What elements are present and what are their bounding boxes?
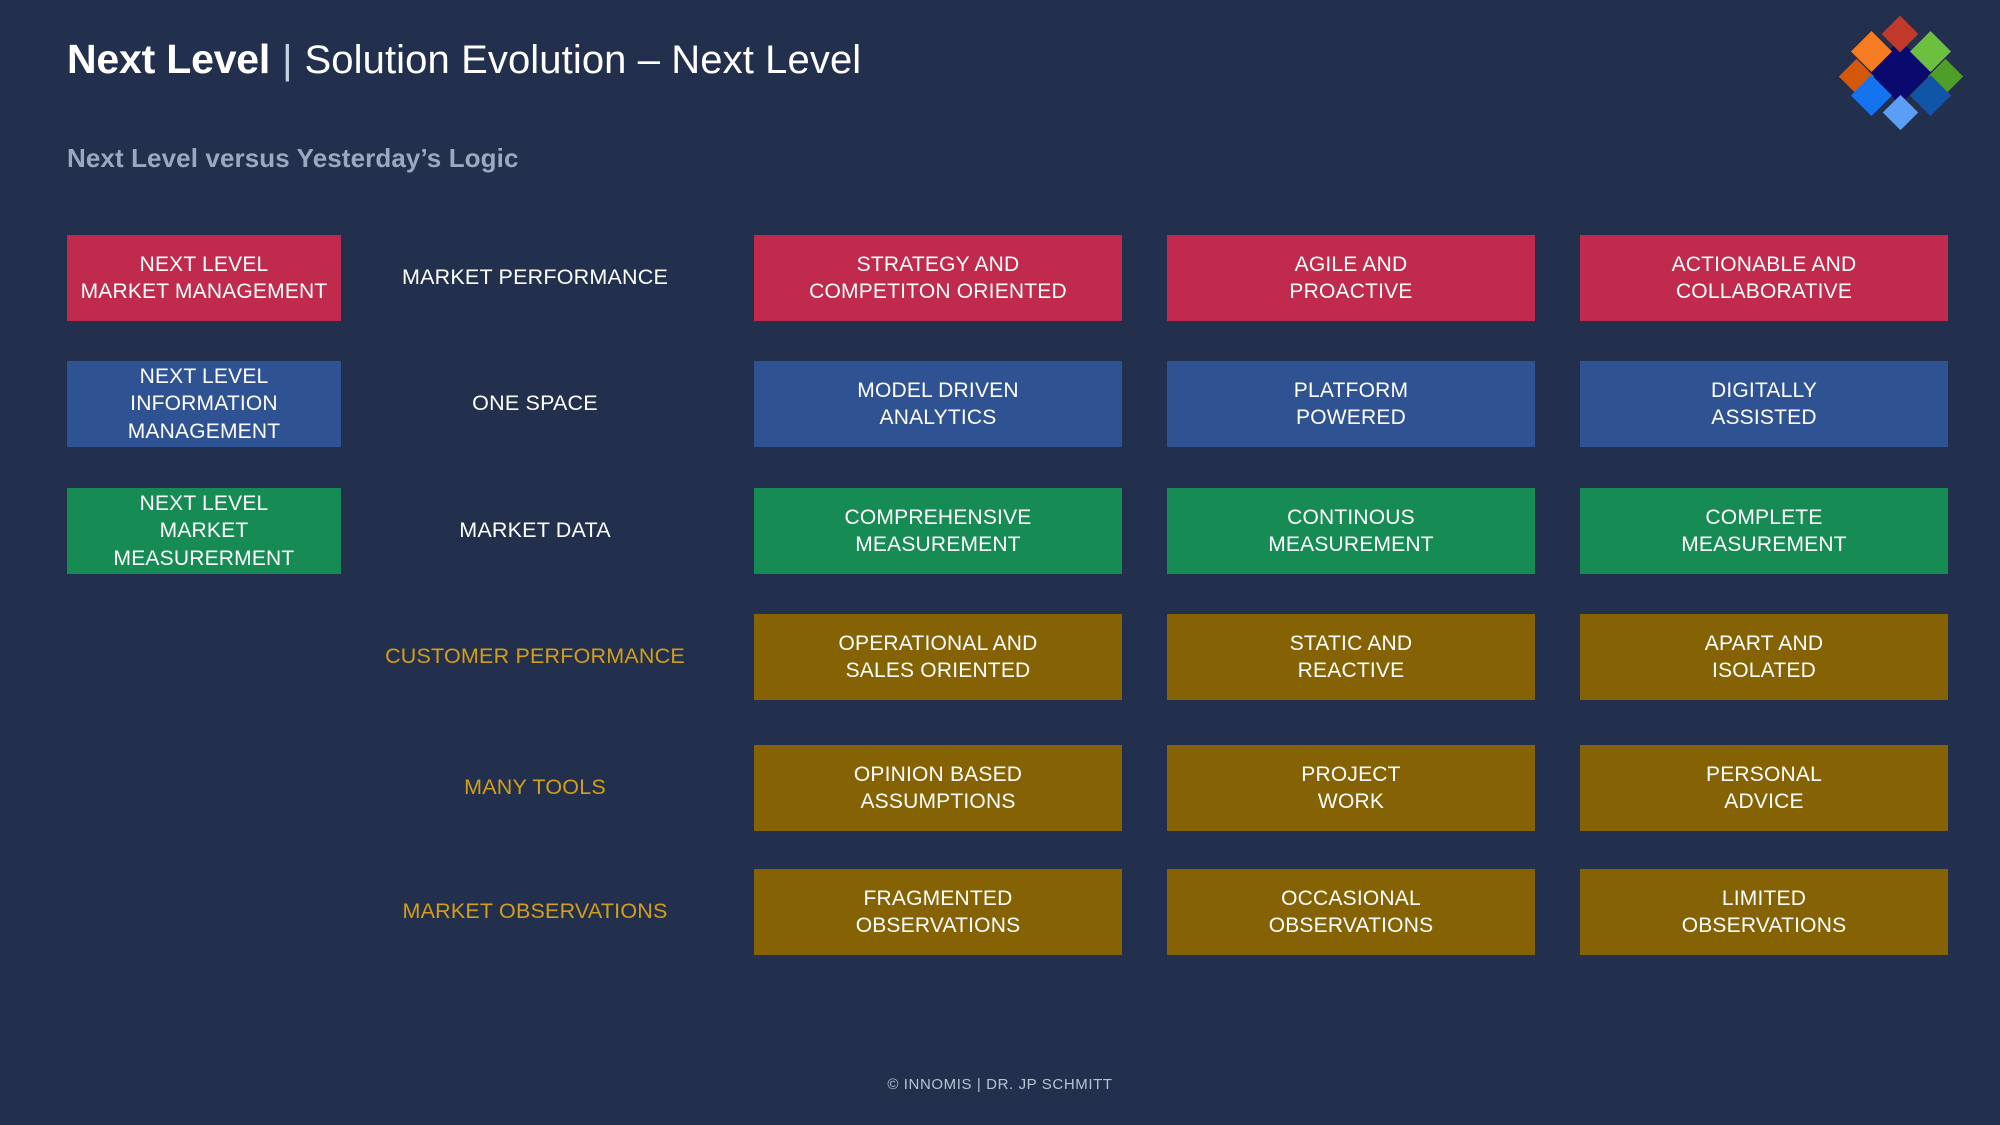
cell-text: NEXT LEVELINFORMATION MANAGEMENT <box>67 363 341 445</box>
cell-text-line1: PLATFORM <box>1294 377 1408 404</box>
row-label: MARKET PERFORMANCE <box>375 235 695 321</box>
attribute-box[interactable]: DIGITALLYASSISTED <box>1580 361 1948 447</box>
cell-text-line1: STRATEGY AND <box>809 251 1067 278</box>
cell-text-line1: NEXT LEVEL <box>67 363 341 390</box>
cell-text-line2: POWERED <box>1294 404 1408 431</box>
cell-text-line2: MEASUREMENT <box>1268 531 1434 558</box>
attribute-box[interactable]: STRATEGY ANDCOMPETITON ORIENTED <box>754 235 1122 321</box>
cell-text-line1: MODEL DRIVEN <box>857 377 1018 404</box>
cell-text-line2: PROACTIVE <box>1289 278 1412 305</box>
next-level-box[interactable]: NEXT LEVELMARKET MEASURERMENT <box>67 488 341 574</box>
cell-text: PERSONALADVICE <box>1706 761 1822 816</box>
attribute-box[interactable]: COMPLETEMEASUREMENT <box>1580 488 1948 574</box>
cell-text: OPINION BASEDASSUMPTIONS <box>854 761 1022 816</box>
attribute-box[interactable]: PROJECTWORK <box>1167 745 1535 831</box>
cell-text-line1: NEXT LEVEL <box>67 490 341 517</box>
cell-text-line1: OPINION BASED <box>854 761 1022 788</box>
cell-text-line2: MARKET MANAGEMENT <box>81 278 328 305</box>
cell-text-line1: OCCASIONAL <box>1269 885 1434 912</box>
cell-text: LIMITEDOBSERVATIONS <box>1682 885 1847 940</box>
row-market-observations: MARKET OBSERVATIONSFRAGMENTEDOBSERVATION… <box>0 869 2000 955</box>
cell-text-line2: ADVICE <box>1706 788 1822 815</box>
row-label: ONE SPACE <box>375 361 695 447</box>
attribute-box[interactable]: PLATFORMPOWERED <box>1167 361 1535 447</box>
cell-text-line1: FRAGMENTED <box>856 885 1021 912</box>
comparison-matrix: NEXT LEVELMARKET MANAGEMENTMARKET PERFOR… <box>0 0 2000 1125</box>
cell-text-line1: STATIC AND <box>1290 630 1413 657</box>
cell-text-line2: OBSERVATIONS <box>1269 912 1434 939</box>
cell-text-line1: MARKET OBSERVATIONS <box>402 898 667 926</box>
cell-text: MARKET DATA <box>459 517 611 545</box>
cell-text-line1: PERSONAL <box>1706 761 1822 788</box>
cell-text-line2: MARKET MEASURERMENT <box>67 517 341 572</box>
cell-text-line2: COMPETITON ORIENTED <box>809 278 1067 305</box>
attribute-box[interactable]: PERSONALADVICE <box>1580 745 1948 831</box>
cell-text: MANY TOOLS <box>464 774 606 802</box>
row-customer-performance: CUSTOMER PERFORMANCEOPERATIONAL ANDSALES… <box>0 614 2000 700</box>
cell-text-line2: SALES ORIENTED <box>838 657 1037 684</box>
cell-text-line1: CONTINOUS <box>1268 504 1434 531</box>
cell-text-line2: ANALYTICS <box>857 404 1018 431</box>
cell-text: ONE SPACE <box>472 390 598 418</box>
row-market-measurement: NEXT LEVELMARKET MEASURERMENTMARKET DATA… <box>0 488 2000 574</box>
cell-text-line2: INFORMATION MANAGEMENT <box>67 390 341 445</box>
row-label: CUSTOMER PERFORMANCE <box>375 614 695 700</box>
attribute-box[interactable]: APART ANDISOLATED <box>1580 614 1948 700</box>
attribute-box[interactable]: FRAGMENTEDOBSERVATIONS <box>754 869 1122 955</box>
cell-text-line2: COLLABORATIVE <box>1672 278 1857 305</box>
footer-copyright: © INNOMIS | DR. JP SCHMITT <box>0 1076 2000 1093</box>
cell-text-line2: OBSERVATIONS <box>856 912 1021 939</box>
cell-text: STRATEGY ANDCOMPETITON ORIENTED <box>809 251 1067 306</box>
attribute-box[interactable]: OPERATIONAL ANDSALES ORIENTED <box>754 614 1122 700</box>
cell-text: CONTINOUSMEASUREMENT <box>1268 504 1434 559</box>
cell-text-line1: MANY TOOLS <box>464 774 606 802</box>
attribute-box[interactable]: COMPREHENSIVEMEASUREMENT <box>754 488 1122 574</box>
cell-text-line2: ASSUMPTIONS <box>854 788 1022 815</box>
cell-text-line1: ACTIONABLE AND <box>1672 251 1857 278</box>
cell-text-line1: MARKET PERFORMANCE <box>402 264 668 292</box>
next-level-box[interactable]: NEXT LEVELINFORMATION MANAGEMENT <box>67 361 341 447</box>
cell-text-line1: CUSTOMER PERFORMANCE <box>385 643 685 671</box>
cell-text: NEXT LEVELMARKET MANAGEMENT <box>81 251 328 306</box>
cell-text-line2: ASSISTED <box>1711 404 1817 431</box>
cell-text: MODEL DRIVENANALYTICS <box>857 377 1018 432</box>
row-information-management: NEXT LEVELINFORMATION MANAGEMENTONE SPAC… <box>0 361 2000 447</box>
attribute-box[interactable]: OPINION BASEDASSUMPTIONS <box>754 745 1122 831</box>
cell-text-line1: COMPREHENSIVE <box>845 504 1032 531</box>
attribute-box[interactable]: AGILE ANDPROACTIVE <box>1167 235 1535 321</box>
cell-text: AGILE ANDPROACTIVE <box>1289 251 1412 306</box>
row-market-management: NEXT LEVELMARKET MANAGEMENTMARKET PERFOR… <box>0 235 2000 321</box>
attribute-box[interactable]: CONTINOUSMEASUREMENT <box>1167 488 1535 574</box>
cell-text: PLATFORMPOWERED <box>1294 377 1408 432</box>
row-label: MANY TOOLS <box>375 745 695 831</box>
cell-text: OPERATIONAL ANDSALES ORIENTED <box>838 630 1037 685</box>
cell-text-line2: WORK <box>1301 788 1400 815</box>
cell-text-line2: MEASUREMENT <box>845 531 1032 558</box>
slide-root: Next Level | Solution Evolution – Next L… <box>0 0 2000 1125</box>
cell-text: DIGITALLYASSISTED <box>1711 377 1817 432</box>
row-many-tools: MANY TOOLSOPINION BASEDASSUMPTIONSPROJEC… <box>0 745 2000 831</box>
cell-text-line1: AGILE AND <box>1289 251 1412 278</box>
cell-text: FRAGMENTEDOBSERVATIONS <box>856 885 1021 940</box>
cell-text-line2: OBSERVATIONS <box>1682 912 1847 939</box>
next-level-box[interactable]: NEXT LEVELMARKET MANAGEMENT <box>67 235 341 321</box>
cell-text-line1: NEXT LEVEL <box>81 251 328 278</box>
cell-text-line1: PROJECT <box>1301 761 1400 788</box>
row-label: MARKET OBSERVATIONS <box>375 869 695 955</box>
attribute-box[interactable]: LIMITEDOBSERVATIONS <box>1580 869 1948 955</box>
cell-text: APART ANDISOLATED <box>1705 630 1824 685</box>
cell-text-line1: COMPLETE <box>1681 504 1847 531</box>
attribute-box[interactable]: MODEL DRIVENANALYTICS <box>754 361 1122 447</box>
cell-text-line1: ONE SPACE <box>472 390 598 418</box>
cell-text: STATIC ANDREACTIVE <box>1290 630 1413 685</box>
cell-text-line2: REACTIVE <box>1290 657 1413 684</box>
cell-text-line1: LIMITED <box>1682 885 1847 912</box>
cell-text: NEXT LEVELMARKET MEASURERMENT <box>67 490 341 572</box>
cell-text-line1: MARKET DATA <box>459 517 611 545</box>
cell-text: CUSTOMER PERFORMANCE <box>385 643 685 671</box>
cell-text: ACTIONABLE ANDCOLLABORATIVE <box>1672 251 1857 306</box>
cell-text: COMPREHENSIVEMEASUREMENT <box>845 504 1032 559</box>
cell-text-line1: DIGITALLY <box>1711 377 1817 404</box>
cell-text: MARKET OBSERVATIONS <box>402 898 667 926</box>
cell-text-line2: MEASUREMENT <box>1681 531 1847 558</box>
cell-text: MARKET PERFORMANCE <box>402 264 668 292</box>
attribute-box[interactable]: OCCASIONALOBSERVATIONS <box>1167 869 1535 955</box>
cell-text: PROJECTWORK <box>1301 761 1400 816</box>
cell-text: COMPLETEMEASUREMENT <box>1681 504 1847 559</box>
cell-text-line1: OPERATIONAL AND <box>838 630 1037 657</box>
attribute-box[interactable]: ACTIONABLE ANDCOLLABORATIVE <box>1580 235 1948 321</box>
attribute-box[interactable]: STATIC ANDREACTIVE <box>1167 614 1535 700</box>
cell-text-line2: ISOLATED <box>1705 657 1824 684</box>
row-label: MARKET DATA <box>375 488 695 574</box>
cell-text-line1: APART AND <box>1705 630 1824 657</box>
cell-text: OCCASIONALOBSERVATIONS <box>1269 885 1434 940</box>
